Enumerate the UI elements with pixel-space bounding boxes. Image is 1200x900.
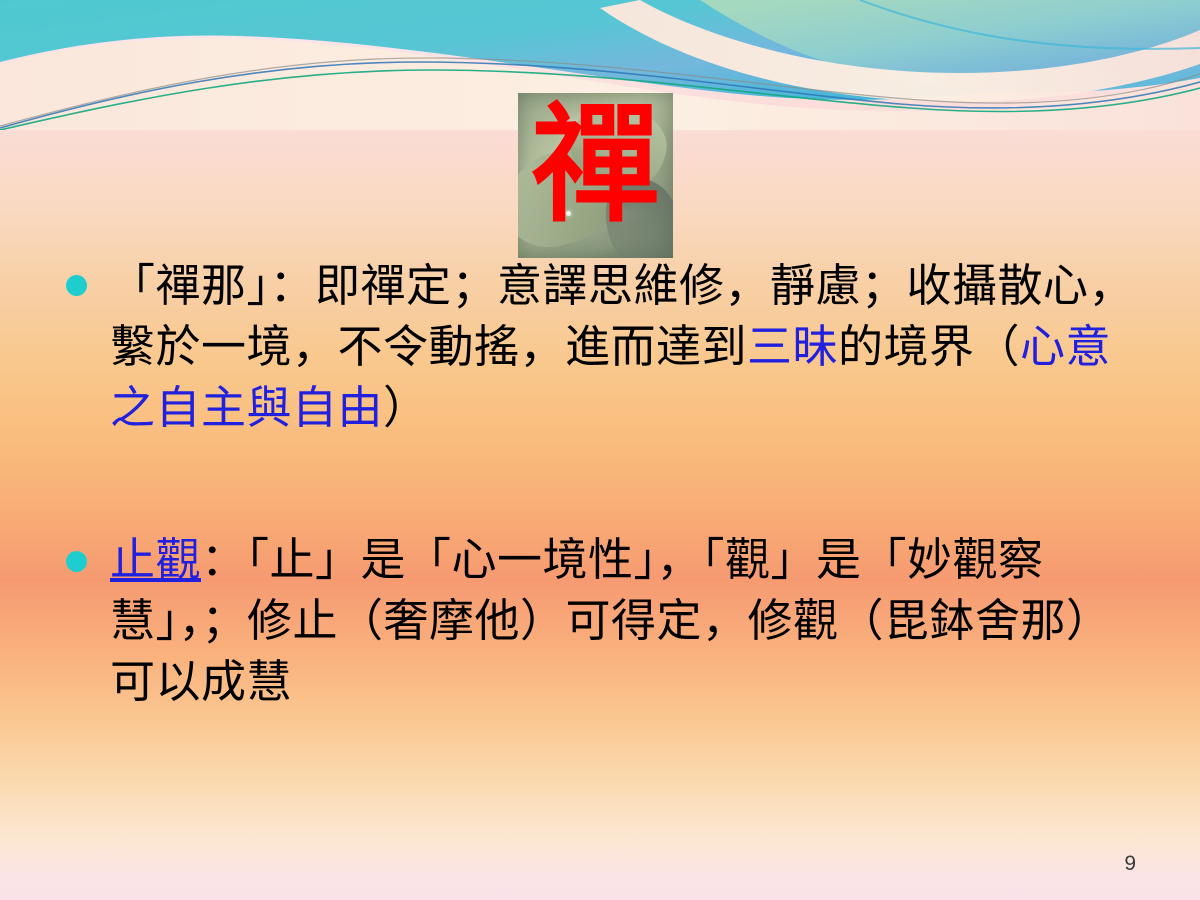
run-highlight-underlined: 止觀 (110, 533, 201, 586)
run-highlight: 三昧 (747, 320, 838, 373)
page-number: 9 (1124, 852, 1136, 876)
hero-overlay-character: 禪 (518, 82, 673, 247)
run-text: 的境界（ (838, 320, 1020, 373)
run-text: ：「止」是「心一境性」，「觀」是「妙觀察慧」，；修止（奢摩他）可得定，修觀（毘鉢… (110, 533, 1112, 708)
bullet-marker-icon (66, 275, 87, 296)
run-text: ） (383, 381, 429, 434)
slide-canvas: 禪 「禪那」：即禪定；意譯思維修，靜慮；收攝散心，繫於一境，不令動搖，進而達到三… (0, 0, 1200, 900)
bullet-marker-icon (66, 551, 87, 572)
slide-body: 「禪那」：即禪定；意譯思維修，靜慮；收攝散心，繫於一境，不令動搖，進而達到三昧的… (58, 255, 1148, 712)
bullet-item-chan-na: 「禪那」：即禪定；意譯思維修，靜慮；收攝散心，繫於一境，不令動搖，進而達到三昧的… (58, 255, 1148, 439)
bullet-item-zhi-guan: 止觀：「止」是「心一境性」，「觀」是「妙觀察慧」，；修止（奢摩他）可得定，修觀（… (58, 529, 1148, 713)
